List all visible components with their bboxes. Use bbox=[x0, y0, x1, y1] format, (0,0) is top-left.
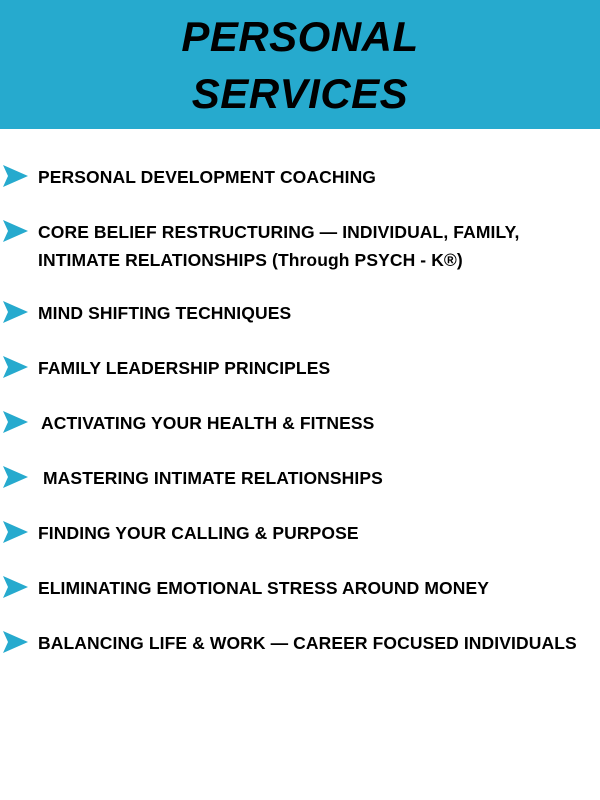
arrow-right-bullet-icon bbox=[2, 411, 28, 433]
arrow-right-bullet-icon bbox=[2, 165, 28, 187]
arrow-right-bullet-icon bbox=[2, 301, 28, 323]
arrow-right-bullet-icon bbox=[2, 356, 28, 378]
services-list: PERSONAL DEVELOPMENT COACHING CORE BELIE… bbox=[0, 129, 600, 684]
list-item[interactable]: BALANCING LIFE & WORK — CAREER FOCUSED I… bbox=[0, 629, 600, 657]
arrow-right-bullet-icon bbox=[2, 521, 28, 543]
list-item-label: FAMILY LEADERSHIP PRINCIPLES bbox=[38, 354, 598, 382]
list-item[interactable]: ELIMINATING EMOTIONAL STRESS AROUND MONE… bbox=[0, 574, 600, 602]
list-item[interactable]: MIND SHIFTING TECHNIQUES bbox=[0, 299, 600, 327]
list-item-label: BALANCING LIFE & WORK — CAREER FOCUSED I… bbox=[38, 629, 598, 657]
list-item-label: MIND SHIFTING TECHNIQUES bbox=[38, 299, 598, 327]
page-title-line-1: PERSONAL bbox=[181, 8, 418, 65]
list-item-label: ELIMINATING EMOTIONAL STRESS AROUND MONE… bbox=[38, 574, 598, 602]
list-item-label: FINDING YOUR CALLING & PURPOSE bbox=[38, 519, 598, 547]
arrow-right-bullet-icon bbox=[2, 631, 28, 653]
list-item[interactable]: CORE BELIEF RESTRUCTURING — INDIVIDUAL, … bbox=[0, 218, 600, 274]
list-item[interactable]: FINDING YOUR CALLING & PURPOSE bbox=[0, 519, 600, 547]
list-item-label: ACTIVATING YOUR HEALTH & FITNESS bbox=[41, 409, 598, 437]
arrow-right-bullet-icon bbox=[2, 220, 28, 242]
arrow-right-bullet-icon bbox=[2, 576, 28, 598]
list-item-label: CORE BELIEF RESTRUCTURING — INDIVIDUAL, … bbox=[38, 218, 598, 274]
list-item[interactable]: MASTERING INTIMATE RELATIONSHIPS bbox=[0, 464, 600, 492]
list-item[interactable]: ACTIVATING YOUR HEALTH & FITNESS bbox=[0, 409, 600, 437]
page-title-line-2: SERVICES bbox=[192, 65, 408, 122]
list-item[interactable]: FAMILY LEADERSHIP PRINCIPLES bbox=[0, 354, 600, 382]
arrow-right-bullet-icon bbox=[2, 466, 28, 488]
list-item-label: PERSONAL DEVELOPMENT COACHING bbox=[38, 163, 598, 191]
list-item[interactable]: PERSONAL DEVELOPMENT COACHING bbox=[0, 163, 600, 191]
list-item-label: MASTERING INTIMATE RELATIONSHIPS bbox=[43, 464, 598, 492]
personal-services-slide: PERSONAL SERVICES PERSONAL DEVELOPMENT C… bbox=[0, 0, 600, 800]
header-banner: PERSONAL SERVICES bbox=[0, 0, 600, 129]
